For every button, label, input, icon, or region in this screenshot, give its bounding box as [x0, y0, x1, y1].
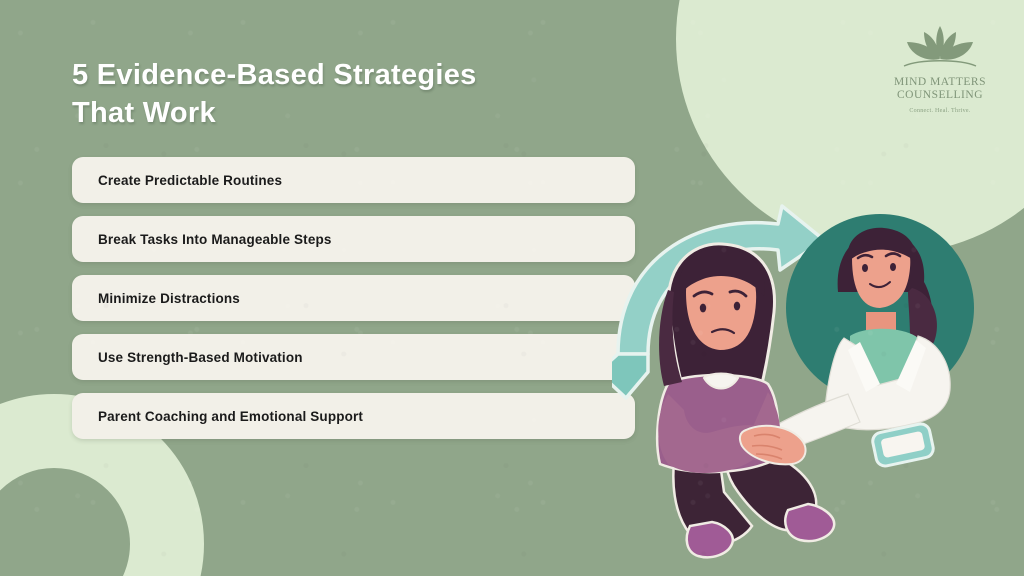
strategy-label: Use Strength-Based Motivation: [72, 350, 303, 365]
therapy-session-illustration: [612, 196, 1024, 576]
strategy-list: Create Predictable Routines Break Tasks …: [72, 157, 635, 452]
strategy-label: Break Tasks Into Manageable Steps: [72, 232, 332, 247]
strategy-label: Parent Coaching and Emotional Support: [72, 409, 363, 424]
illustration-svg: [612, 196, 1024, 576]
list-item[interactable]: Use Strength-Based Motivation: [72, 334, 635, 380]
logo-tagline: Connect. Heal. Thrive.: [880, 105, 1000, 118]
logo-name-line2: COUNSELLING: [880, 89, 1000, 102]
page-title: 5 Evidence-Based Strategies That Work: [72, 56, 477, 132]
brand-logo: MIND MATTERS COUNSELLING Connect. Heal. …: [880, 22, 1000, 118]
logo-name-line1: MIND MATTERS: [880, 76, 1000, 89]
list-item[interactable]: Minimize Distractions: [72, 275, 635, 321]
lotus-icon: [888, 22, 992, 76]
list-item[interactable]: Parent Coaching and Emotional Support: [72, 393, 635, 439]
list-item[interactable]: Create Predictable Routines: [72, 157, 635, 203]
strategy-label: Create Predictable Routines: [72, 173, 282, 188]
list-item[interactable]: Break Tasks Into Manageable Steps: [72, 216, 635, 262]
strategy-label: Minimize Distractions: [72, 291, 240, 306]
slide-canvas: 5 Evidence-Based Strategies That Work Cr…: [0, 0, 1024, 576]
